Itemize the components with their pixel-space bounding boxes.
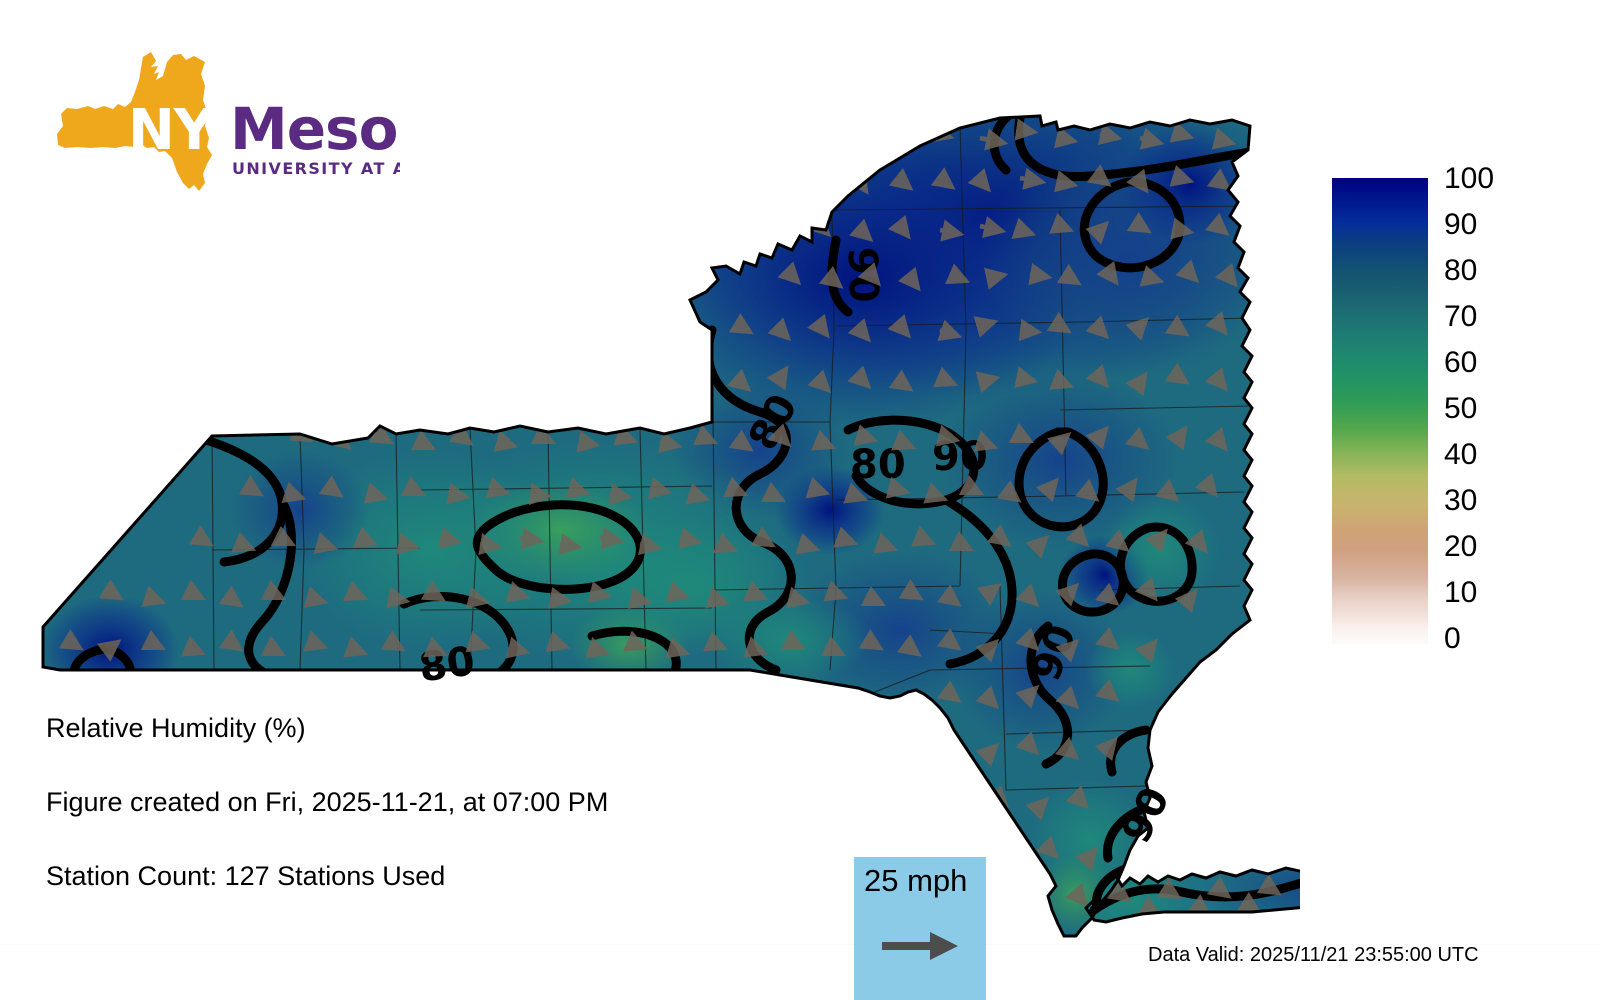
colorbar-tick-0: 0 xyxy=(1444,624,1461,654)
station-count: Station Count: 127 Stations Used xyxy=(46,863,806,890)
colorbar-group: 100 90 80 70 60 50 40 30 20 10 0 xyxy=(1332,178,1582,648)
figure-created-timestamp: Figure created on Fri, 2025-11-21, at 07… xyxy=(46,789,806,816)
caption-block: Relative Humidity (%) Figure created on … xyxy=(46,715,806,937)
right-arrow-icon xyxy=(882,929,960,968)
colorbar-tick-100: 100 xyxy=(1444,164,1494,194)
colorbar-tick-60: 60 xyxy=(1444,348,1477,378)
data-valid-timestamp: Data Valid: 2025/11/21 23:55:00 UTC xyxy=(1148,945,1479,965)
contour-label-80: 80 xyxy=(850,442,906,488)
wind-speed-legend: 25 mph xyxy=(854,857,986,1000)
wind-legend-label: 25 mph xyxy=(864,865,967,896)
contour-label-90: 90 xyxy=(932,434,988,480)
relative-humidity-colorbar xyxy=(1332,178,1428,644)
figure-canvas: NYS Mesonet UNIVERSITY AT ALBANY xyxy=(0,0,1600,1000)
contour-label-80: 80 xyxy=(416,638,478,691)
colorbar-tick-20: 20 xyxy=(1444,532,1477,562)
contour-label-90: 90 xyxy=(839,246,887,303)
figure-title: Relative Humidity (%) xyxy=(46,715,806,742)
colorbar-tick-90: 90 xyxy=(1444,210,1477,240)
colorbar-tick-30: 30 xyxy=(1444,486,1477,516)
colorbar-tick-70: 70 xyxy=(1444,302,1477,332)
colorbar-tick-10: 10 xyxy=(1444,578,1477,608)
colorbar-tick-40: 40 xyxy=(1444,440,1477,470)
colorbar-tick-50: 50 xyxy=(1444,394,1477,424)
colorbar-tick-80: 80 xyxy=(1444,256,1477,286)
